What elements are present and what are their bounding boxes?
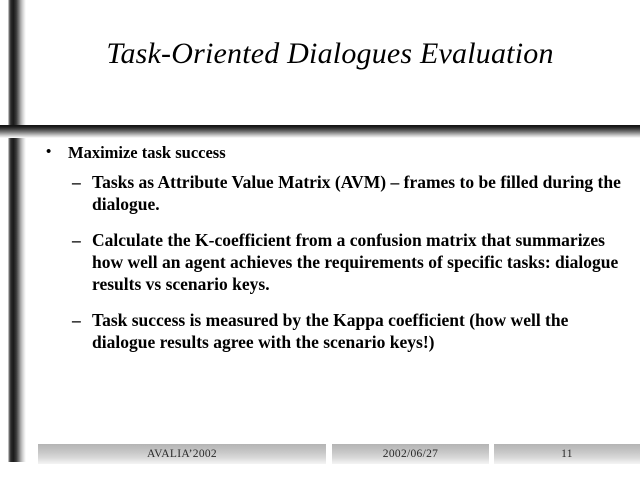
- bullet-item-0: • Maximize task success: [0, 142, 640, 163]
- footer-conference: AVALIA’2002: [38, 444, 326, 464]
- bullet-text-0: Maximize task success: [68, 143, 226, 162]
- dash-marker-icon: –: [72, 309, 81, 331]
- dash-marker-icon: –: [72, 171, 81, 193]
- page-title: Task-Oriented Dialogues Evaluation: [40, 36, 620, 72]
- bullet-text-1: Tasks as Attribute Value Matrix (AVM) – …: [92, 172, 621, 214]
- title-divider: [0, 125, 640, 138]
- slide-body: • Maximize task success – Tasks as Attri…: [0, 142, 640, 367]
- bullet-text-2: Calculate the K-coefficient from a confu…: [92, 230, 618, 294]
- bullet-item-2: – Calculate the K-coefficient from a con…: [0, 229, 640, 295]
- bullet-text-3: Task success is measured by the Kappa co…: [92, 310, 568, 352]
- dash-marker-icon: –: [72, 229, 81, 251]
- footer-date: 2002/06/27: [332, 444, 489, 464]
- bullet-item-3: – Task success is measured by the Kappa …: [0, 309, 640, 353]
- footer-page-number: 11: [494, 444, 640, 464]
- bullet-marker-icon: •: [46, 142, 51, 163]
- slide: Task-Oriented Dialogues Evaluation • Max…: [0, 0, 640, 480]
- bullet-item-1: – Tasks as Attribute Value Matrix (AVM) …: [0, 171, 640, 215]
- slide-footer: AVALIA’2002 2002/06/27 11: [0, 444, 640, 466]
